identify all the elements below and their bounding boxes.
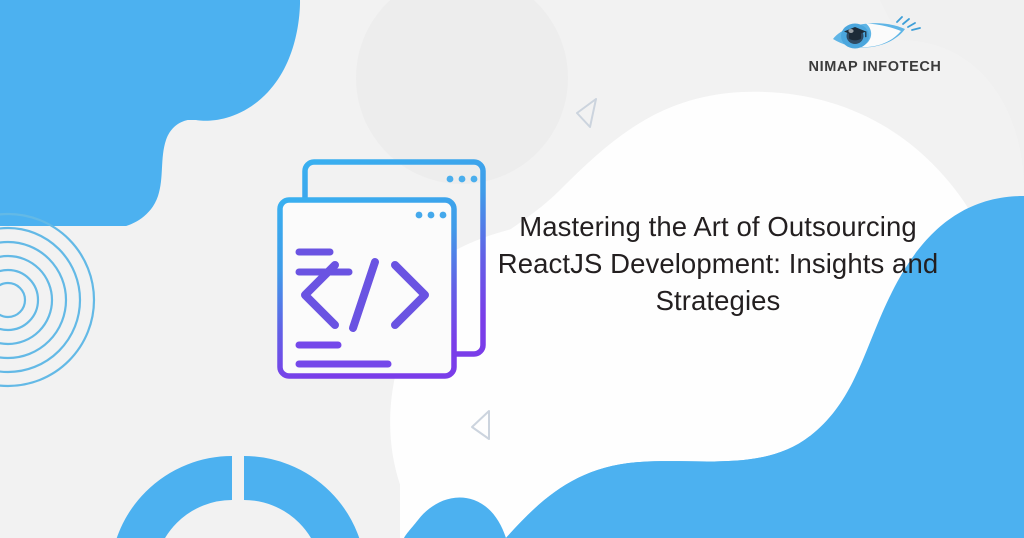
window-dot [459,176,466,183]
brand-wordmark: NIMAP INFOTECH [800,58,950,76]
code-window-icon [272,152,494,386]
eye-highlight-shape [848,29,853,33]
window-dot [416,212,423,219]
eye-with-graduation-cap-icon [819,16,931,56]
window-dot [428,212,435,219]
blog-banner: NIMAP INFOTECH Mastering the Art of Outs… [0,0,1024,538]
window-dot [471,176,478,183]
blue-dot-shape [225,82,245,102]
brand-logo: NIMAP INFOTECH [800,16,950,80]
title-block: Mastering the Art of Outsourcing ReactJS… [496,208,940,319]
page-title: Mastering the Art of Outsourcing ReactJS… [496,208,940,319]
window-dot [447,176,454,183]
window-dot [440,212,447,219]
